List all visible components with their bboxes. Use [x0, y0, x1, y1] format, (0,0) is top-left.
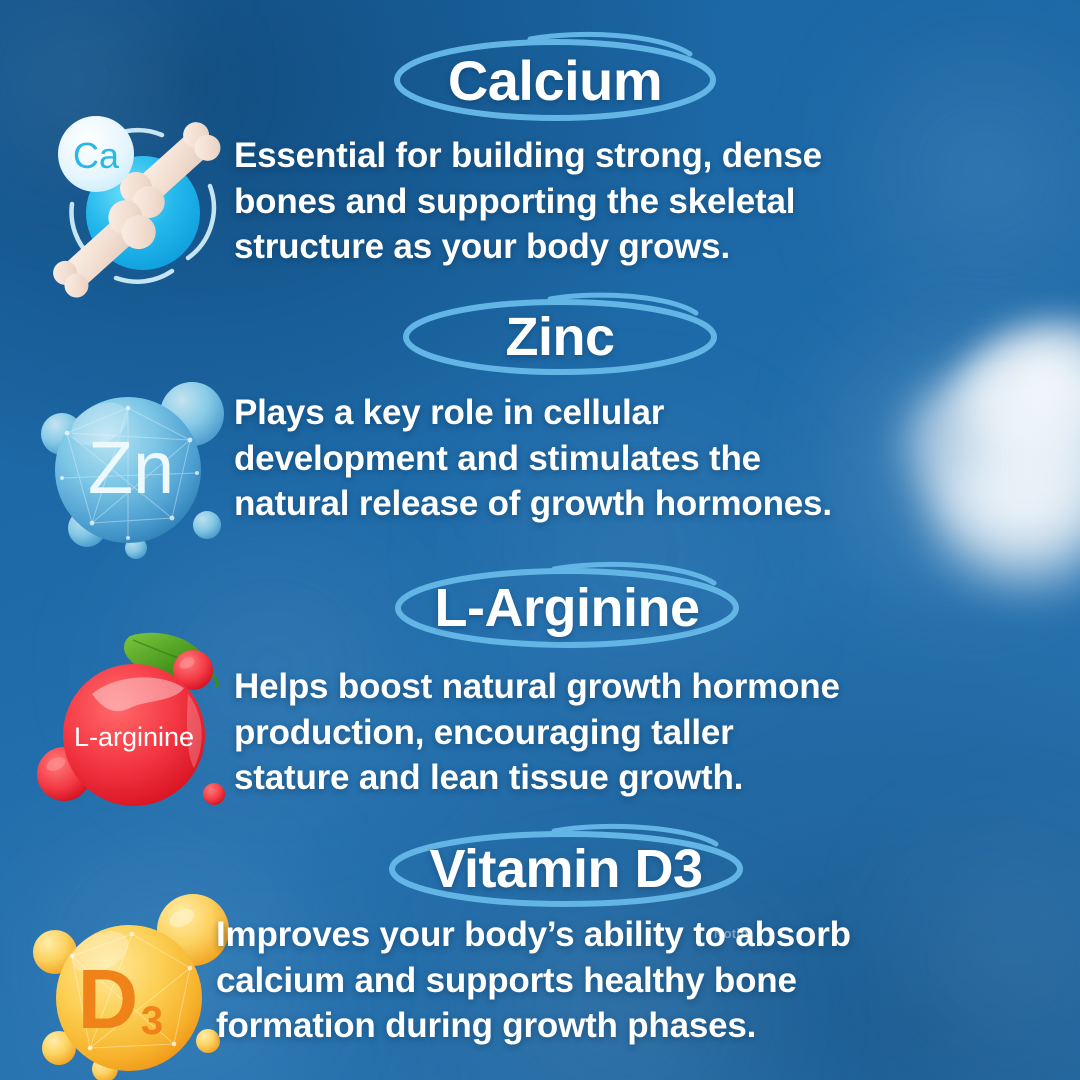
zinc-molecule-icon: Zn [32, 378, 232, 556]
zinc-symbol-text: Zn [88, 426, 174, 509]
calcium-bone-icon: Ca [40, 108, 230, 293]
body-calcium: Essential for building strong, dense bon… [234, 133, 934, 270]
heading-label-vitamin-d3: Vitamin D3 [429, 838, 702, 900]
vitamin-d3-molecule-icon: D 3 [28, 888, 243, 1080]
heading-zinc: Zinc [400, 297, 720, 377]
vitamin-d3-symbol-text: D [78, 952, 139, 1046]
heading-label-l-arginine: L-Arginine [435, 577, 700, 639]
heading-calcium: Calcium [390, 36, 720, 124]
section-vitamin-d3: Vitamin D3 [0, 820, 1080, 1080]
calcium-symbol-text: Ca [73, 135, 120, 176]
section-calcium: Calcium [0, 0, 1080, 300]
body-vitamin-d3: Improves your body’s ability to absorb c… [216, 912, 946, 1049]
heading-vitamin-d3: Vitamin D3 [386, 829, 746, 909]
body-zinc: Plays a key role in cellular development… [234, 390, 934, 527]
heading-l-arginine: L-Arginine [392, 566, 742, 650]
watermark-text: Notify [714, 926, 752, 941]
section-l-arginine: L-Arginine [0, 560, 1080, 830]
l-arginine-symbol-text: L-arginine [74, 722, 194, 752]
infographic-poster: Calcium [0, 0, 1080, 1080]
section-zinc: Zinc [0, 290, 1080, 560]
body-l-arginine: Helps boost natural growth hormone produ… [234, 664, 944, 801]
heading-label-zinc: Zinc [505, 306, 614, 368]
l-arginine-fruit-icon: L-arginine [34, 622, 239, 812]
vitamin-d3-subscript-text: 3 [141, 999, 163, 1043]
heading-label-calcium: Calcium [448, 48, 662, 113]
